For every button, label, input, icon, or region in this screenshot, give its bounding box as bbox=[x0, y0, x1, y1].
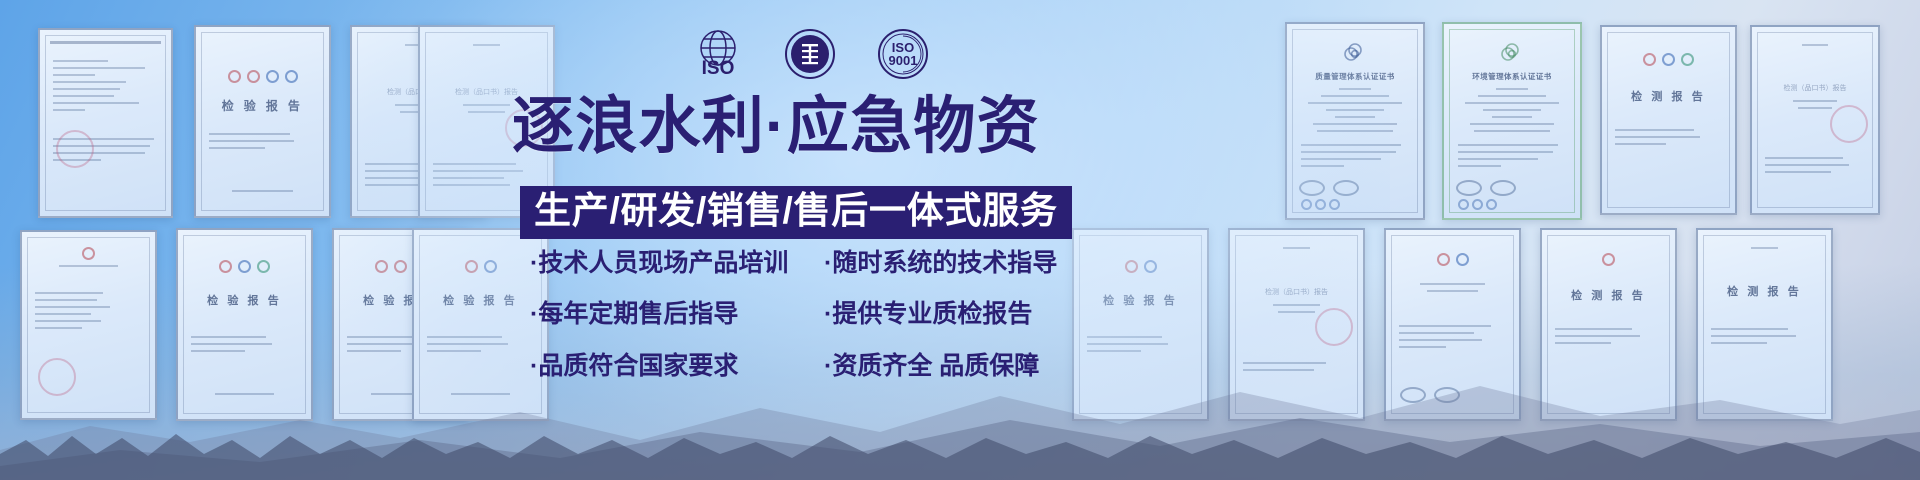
feature-item: ·随时系统的技术指导 bbox=[824, 248, 1057, 279]
certificate-environment-system: 环境管理体系认证证书 bbox=[1442, 22, 1582, 220]
certificate-logo-line bbox=[1243, 247, 1349, 254]
cqc-logo-icon bbox=[82, 247, 95, 260]
certificate-scope-lines bbox=[1301, 144, 1410, 172]
certificate-logo-line bbox=[1765, 44, 1866, 51]
certificate-body-lines bbox=[1301, 88, 1410, 137]
certificate-test-report-9: 检测（品口书）报告 bbox=[1750, 25, 1880, 215]
promotional-banner: 检 验 报 告 检测（品口书）报告 检测（品口书）报告 bbox=[0, 0, 1920, 480]
certificate-logo-line bbox=[433, 44, 539, 51]
certificate-inspection-report-8: 检 测 报 告 bbox=[1600, 25, 1737, 215]
subtitle-text: 生产/研发/销售/售后一体式服务 bbox=[534, 192, 1058, 231]
certificate-title-rule bbox=[1399, 283, 1505, 297]
ccc-logo-icon bbox=[394, 260, 407, 273]
certificate-footer-line bbox=[209, 190, 315, 197]
iso-flower-icon bbox=[1444, 41, 1580, 67]
certificate-title: 环境管理体系认证证书 bbox=[1444, 71, 1580, 82]
feature-item: ·提供专业质检报告 bbox=[824, 299, 1057, 330]
cnas-logo-icon bbox=[1456, 180, 1482, 196]
olympic-rings-icon bbox=[1458, 199, 1497, 210]
cqc-logo-icon bbox=[228, 70, 241, 83]
ccc-logo-icon bbox=[247, 70, 260, 83]
feature-item: ·每年定期售后指导 bbox=[530, 299, 808, 330]
olympic-rings-icon bbox=[1301, 199, 1340, 210]
certificate-text-lines bbox=[53, 60, 158, 116]
quality-seal-badge bbox=[782, 28, 838, 80]
cma-logo-icon bbox=[238, 260, 251, 273]
cma-logo-icon bbox=[1662, 53, 1675, 66]
certificate-title: 检 测 报 告 bbox=[1602, 88, 1735, 104]
certificate-title: 检 测 报 告 bbox=[1698, 283, 1831, 299]
certificate-header-rule bbox=[50, 41, 160, 44]
certification-logo-row bbox=[196, 70, 329, 83]
cnas-logo-icon bbox=[1299, 180, 1325, 196]
feature-list: ·技术人员现场产品培训 ·随时系统的技术指导 ·每年定期售后指导 ·提供专业质检… bbox=[530, 248, 1057, 382]
iso-globe-badge: ISO bbox=[690, 28, 746, 80]
certification-logo-row bbox=[22, 247, 155, 260]
iso-badge-label: ISO bbox=[702, 58, 735, 79]
page-title: 逐浪水利·应急物资 bbox=[512, 96, 1040, 158]
iaf-logo-icon bbox=[1490, 180, 1516, 196]
certification-badge-row: ISO ISO 9001 bbox=[690, 28, 932, 80]
certification-logo-row bbox=[1386, 253, 1519, 266]
cqc-logo-icon bbox=[1602, 253, 1615, 266]
certificate-detail-lines bbox=[1615, 129, 1721, 150]
cma-logo-icon bbox=[484, 260, 497, 273]
certificate-logo-line bbox=[1711, 247, 1817, 254]
certification-logo-row bbox=[1542, 253, 1675, 266]
certification-logo-row bbox=[414, 260, 547, 273]
certification-logo-row bbox=[178, 260, 311, 273]
feature-item: ·品质符合国家要求 bbox=[530, 351, 808, 382]
svg-text:9001: 9001 bbox=[889, 53, 918, 68]
cqc-logo-icon bbox=[1125, 260, 1138, 273]
cqc-logo-icon bbox=[375, 260, 388, 273]
certificate-title: 检 验 报 告 bbox=[196, 97, 329, 114]
certificate-scope-lines bbox=[1458, 144, 1567, 172]
cnas-logo-icon bbox=[285, 70, 298, 83]
feature-item: ·技术人员现场产品培训 bbox=[530, 248, 808, 279]
treeline-silhouette bbox=[0, 420, 1920, 480]
certificate-body-lines bbox=[1458, 88, 1567, 137]
cma-logo-icon bbox=[1144, 260, 1157, 273]
certificate-title: 质量管理体系认证证书 bbox=[1287, 71, 1423, 82]
certificate-detail-lines bbox=[209, 133, 315, 154]
cnas-logo-icon bbox=[1681, 53, 1694, 66]
certificate-title-rule bbox=[35, 265, 141, 272]
cqc-logo-icon bbox=[219, 260, 232, 273]
feature-item: ·资质齐全 品质保障 bbox=[824, 351, 1057, 382]
certificate-signature-lines bbox=[1765, 157, 1866, 178]
certificate-stamp bbox=[1830, 105, 1868, 143]
certificate-inspection-report-1 bbox=[38, 28, 173, 218]
certificate-subtitle: 检测（品口书）报告 bbox=[1752, 83, 1878, 93]
certificate-stamp bbox=[56, 130, 94, 168]
cqc-logo-icon bbox=[1437, 253, 1450, 266]
certificate-subtitle: 检测（品口书）报告 bbox=[1230, 287, 1363, 297]
cnas-logo-icon bbox=[257, 260, 270, 273]
certificate-quality-system: 质量管理体系认证证书 bbox=[1285, 22, 1425, 220]
accreditation-logos bbox=[1456, 180, 1516, 196]
accreditation-logos bbox=[1299, 180, 1359, 196]
cqc-logo-icon bbox=[1643, 53, 1656, 66]
cqc-logo-icon bbox=[465, 260, 478, 273]
iaf-logo-icon bbox=[1333, 180, 1359, 196]
iso-flower-icon bbox=[1287, 41, 1423, 67]
certificate-inspection-report-2: 检 验 报 告 bbox=[194, 25, 331, 218]
certification-logo-row bbox=[1074, 260, 1207, 273]
iso9001-badge: ISO 9001 bbox=[874, 28, 932, 80]
certification-logo-row bbox=[1602, 53, 1735, 66]
cma-logo-icon bbox=[1456, 253, 1469, 266]
subtitle-bar: 生产/研发/销售/售后一体式服务 bbox=[520, 186, 1072, 239]
cma-logo-icon bbox=[266, 70, 279, 83]
